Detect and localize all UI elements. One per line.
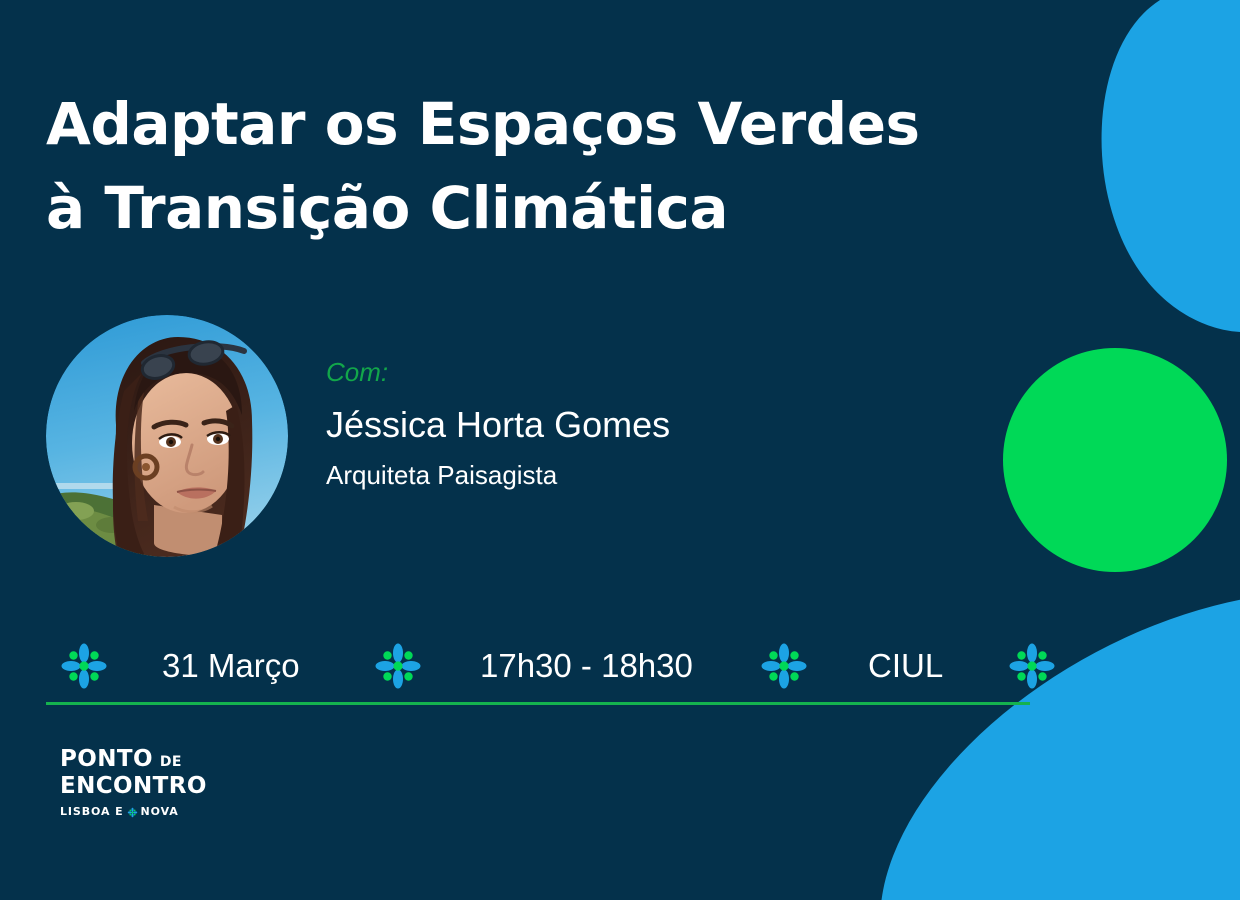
title-line-2: à Transição Climática bbox=[46, 166, 906, 250]
speaker-info: Com: Jéssica Horta Gomes Arquiteta Paisa… bbox=[326, 355, 926, 491]
flower-icon bbox=[756, 638, 812, 694]
page-title: Adaptar os Espaços Verdes à Transição Cl… bbox=[46, 82, 906, 250]
flower-icon bbox=[127, 807, 138, 818]
portrait-image bbox=[46, 315, 288, 557]
green-circle-icon bbox=[1003, 348, 1227, 572]
brand-logo: PONTO DE ENCONTRO LISBOA E NOVA bbox=[60, 746, 207, 819]
speaker-name: Jéssica Horta Gomes bbox=[326, 403, 926, 447]
speaker-role: Arquiteta Paisagista bbox=[326, 459, 926, 491]
flower-icon bbox=[56, 638, 112, 694]
logo-tagline-right: NOVA bbox=[141, 805, 179, 819]
blue-petal-bottom-icon bbox=[804, 497, 1240, 900]
title-line-1: Adaptar os Espaços Verdes bbox=[46, 82, 906, 166]
flower-icon bbox=[370, 638, 426, 694]
logo-tagline-left: LISBOA E bbox=[60, 805, 124, 819]
logo-word-de: DE bbox=[160, 753, 182, 771]
speaker-com-label: Com: bbox=[326, 355, 926, 389]
event-time: 17h30 - 18h30 bbox=[480, 644, 693, 688]
logo-tagline: LISBOA E NOVA bbox=[60, 805, 207, 819]
event-info-bar: 31 Março 17h30 - 18h30 bbox=[46, 636, 1046, 698]
event-location: CIUL bbox=[868, 644, 943, 688]
green-divider bbox=[46, 702, 1030, 705]
speaker-portrait bbox=[46, 315, 288, 557]
logo-word-ponto: PONTO bbox=[60, 746, 153, 772]
blue-petal-top-icon bbox=[1102, 0, 1240, 332]
logo-word-encontro: ENCONTRO bbox=[60, 772, 207, 800]
event-date: 31 Março bbox=[162, 644, 300, 688]
flower-icon bbox=[1004, 638, 1060, 694]
event-poster: Adaptar os Espaços Verdes à Transição Cl… bbox=[0, 0, 1240, 900]
